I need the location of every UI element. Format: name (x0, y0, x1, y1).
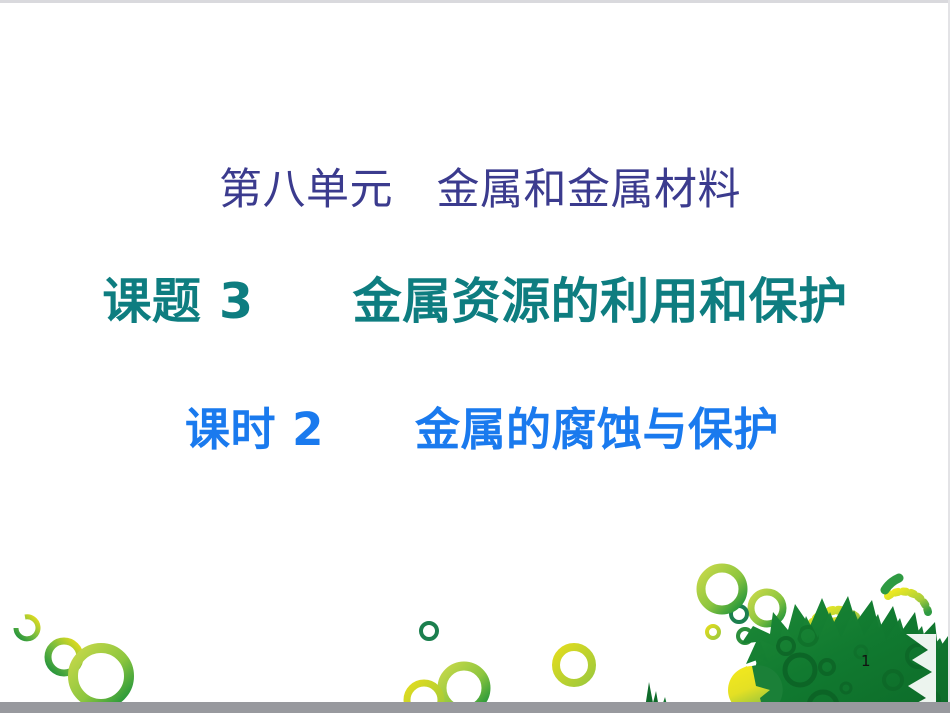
ring-mid-dot (707, 626, 719, 638)
ring-small-arc-left (16, 617, 38, 639)
dotted-arc-left (808, 610, 857, 632)
viewer-bottom-edge (0, 702, 950, 713)
title-line-session: 课时 2 金属的腐蚀与保护 (0, 406, 950, 453)
ring-left-large (73, 648, 129, 704)
title-line-unit: 第八单元 金属和金属材料 (0, 168, 950, 213)
presentation-slide: 第八单元 金属和金属材料 课题 3 金属资源的利用和保护 课时 2 金属的腐蚀与… (0, 0, 950, 713)
ring-right-large-outer (701, 568, 743, 610)
page-number: 1 (861, 652, 871, 670)
ring-right-outer-small (751, 592, 783, 624)
viewer-top-edge (0, 0, 950, 3)
maple-leaf-decoration-svg (0, 560, 950, 713)
maple-leaf-shape (741, 596, 948, 713)
arc-right-green (885, 578, 899, 590)
ring-left-small (48, 641, 80, 673)
leaf-right-white-cut (900, 634, 936, 712)
ring-right-dot-b (738, 629, 752, 643)
title-line-topic: 课题 3 金属资源的利用和保护 (0, 276, 950, 327)
ring-mid-tiny (421, 623, 437, 639)
leaf-inner-bubbles (778, 627, 939, 713)
decoration-artwork (0, 560, 950, 702)
ring-mid-yellow (556, 647, 592, 683)
dotted-arc-right (888, 592, 928, 612)
ring-right-dot-a (731, 606, 747, 622)
solid-arc-left (806, 621, 858, 656)
